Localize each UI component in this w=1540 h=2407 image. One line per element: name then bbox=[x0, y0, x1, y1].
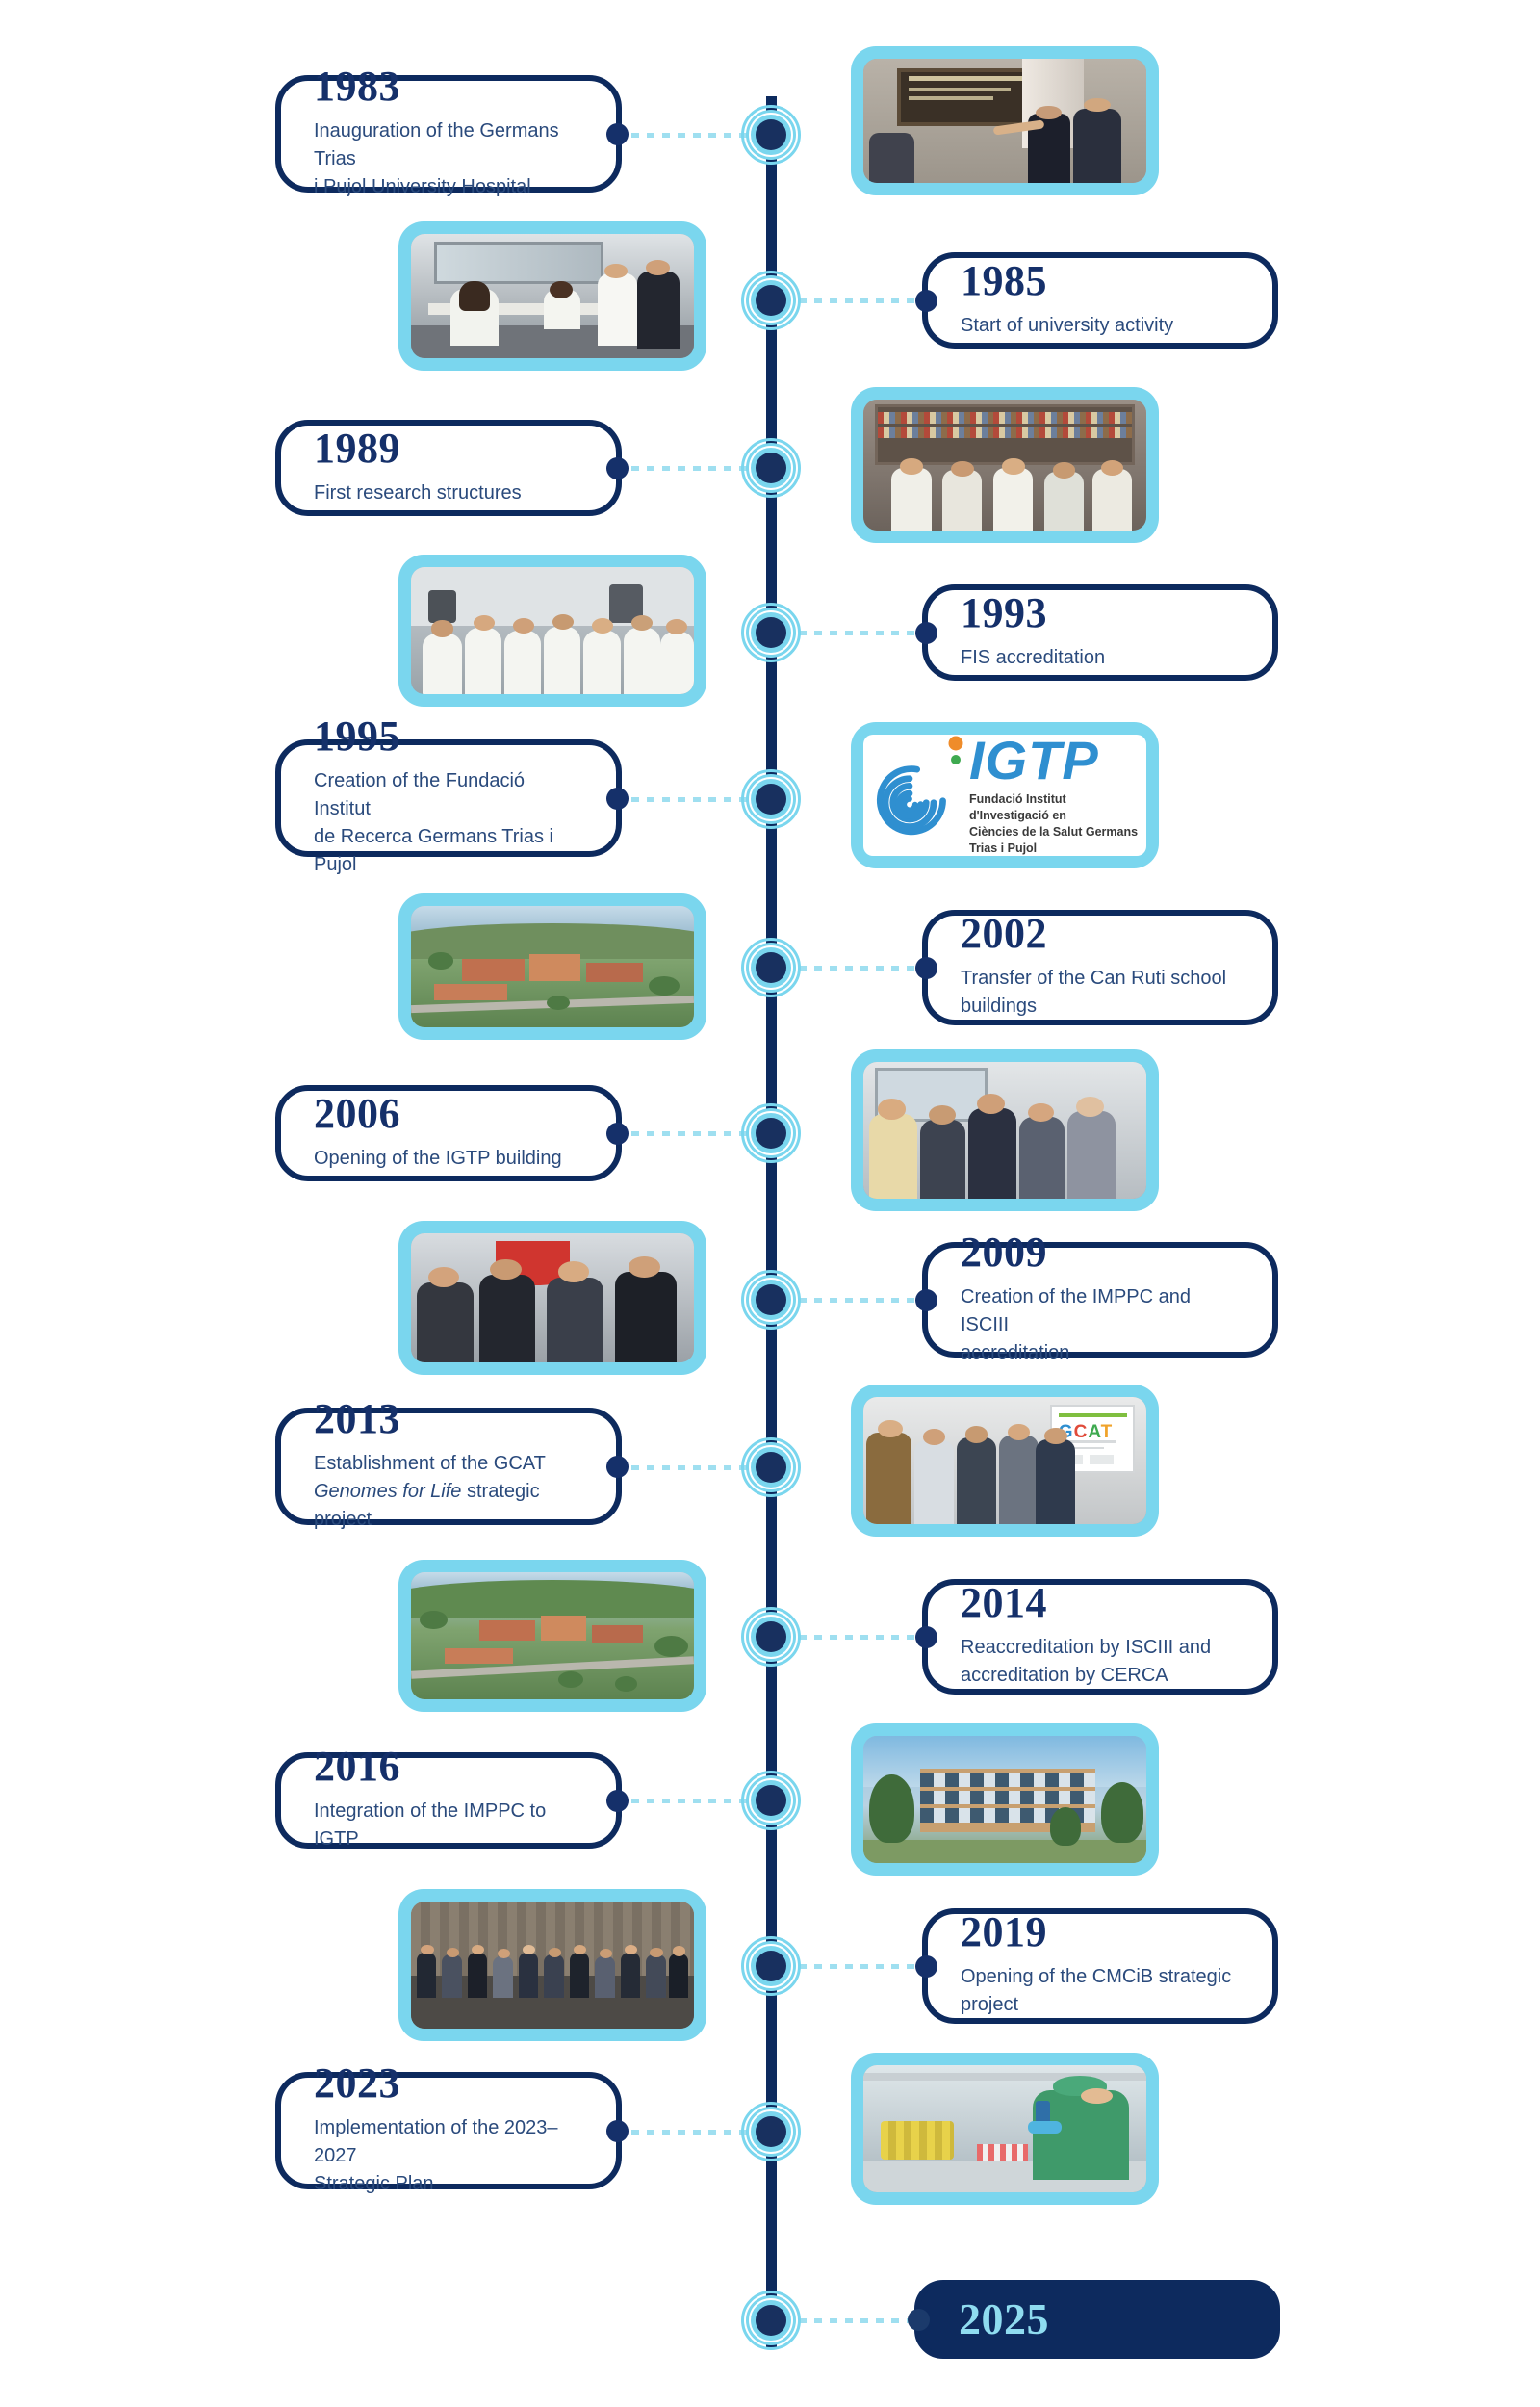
event-year-2013: 2013 bbox=[314, 1398, 583, 1440]
logo-dots-icon bbox=[944, 736, 973, 768]
connector-2002 bbox=[799, 966, 934, 971]
event-desc-1985: Start of university activity bbox=[961, 312, 1240, 340]
photo-frame-inner bbox=[863, 1736, 1146, 1863]
event-year-1983: 1983 bbox=[314, 65, 583, 108]
timeline-node-1983[interactable] bbox=[741, 105, 801, 165]
card-anchor-dot bbox=[606, 457, 629, 479]
node-core-icon bbox=[756, 1785, 786, 1816]
event-desc-2013: Establishment of the GCAT Genomes for Li… bbox=[314, 1450, 583, 1534]
event-year-2019: 2019 bbox=[961, 1911, 1240, 1954]
event-desc-line1: Establishment of the GCAT bbox=[314, 1453, 546, 1474]
photo-gcat-team-2013[interactable]: GCAT bbox=[851, 1385, 1159, 1537]
node-core-icon bbox=[756, 1621, 786, 1652]
photo-image bbox=[863, 59, 1146, 183]
event-year-2002: 2002 bbox=[961, 913, 1240, 955]
timeline-node-1993[interactable] bbox=[741, 603, 801, 662]
event-card-2014[interactable]: 2014 Reaccreditation by ISCIII and accre… bbox=[922, 1579, 1278, 1695]
event-card-1983[interactable]: 1983 Inauguration of the Germans Trias i… bbox=[275, 75, 622, 193]
photo-laboratory-1985[interactable] bbox=[398, 221, 706, 371]
event-card-1985[interactable]: 1985 Start of university activity bbox=[922, 252, 1278, 349]
event-card-1993[interactable]: 1993 FIS accreditation bbox=[922, 584, 1278, 681]
event-desc-line2: i Pujol University Hospital bbox=[314, 176, 531, 197]
photo-frame-inner bbox=[863, 1062, 1146, 1199]
event-desc-line2: project bbox=[961, 1994, 1018, 2015]
photo-plaque-unveiling-1983[interactable] bbox=[851, 46, 1159, 195]
photo-frame-inner bbox=[411, 1902, 694, 2029]
node-core-icon bbox=[756, 2305, 786, 2336]
event-year-2023: 2023 bbox=[314, 2062, 583, 2105]
card-anchor-dot bbox=[915, 1955, 937, 1978]
node-core-icon bbox=[756, 1951, 786, 1981]
connector-1993 bbox=[799, 631, 934, 635]
timeline-node-1985[interactable] bbox=[741, 271, 801, 330]
event-desc-project-name: Genomes for Life bbox=[314, 1481, 461, 1502]
node-core-icon bbox=[756, 1284, 786, 1315]
photo-frame-inner bbox=[863, 2065, 1146, 2192]
event-desc-line2: buildings bbox=[961, 996, 1037, 1017]
event-desc-2023: Implementation of the 2023–2027 Strategi… bbox=[314, 2114, 583, 2198]
event-card-2013[interactable]: 2013 Establishment of the GCAT Genomes f… bbox=[275, 1408, 622, 1525]
timeline-node-2025[interactable] bbox=[741, 2291, 801, 2350]
photo-imppc-building-2016[interactable] bbox=[851, 1723, 1159, 1876]
event-year-2009: 2009 bbox=[961, 1231, 1240, 1274]
photo-lab-pipetting-2023[interactable] bbox=[851, 2053, 1159, 2205]
node-core-icon bbox=[756, 784, 786, 815]
event-desc-2019: Opening of the CMCiB strategic project bbox=[961, 1963, 1240, 2019]
igtp-tagline: Fundació Institut d'Investigació en Cièn… bbox=[969, 791, 1146, 856]
event-desc-2016: Integration of the IMPPC to IGTP bbox=[314, 1798, 583, 1853]
photo-igtp-logo-1995[interactable]: IGTP Fundació Institut d'Investigació en… bbox=[851, 722, 1159, 868]
event-desc-1983: Inauguration of the Germans Trias i Pujo… bbox=[314, 117, 583, 201]
timeline-node-2013[interactable] bbox=[741, 1437, 801, 1497]
event-desc-2009: Creation of the IMPPC and ISCIII accredi… bbox=[961, 1283, 1240, 1367]
event-year-2025: 2025 bbox=[959, 2297, 1236, 2342]
connector-2025 bbox=[799, 2318, 924, 2323]
photo-image bbox=[411, 1902, 694, 2029]
photo-frame-inner: GCAT bbox=[863, 1397, 1146, 1524]
photo-image bbox=[411, 906, 694, 1027]
timeline-infographic: 1983 Inauguration of the Germans Trias i… bbox=[0, 0, 1540, 2407]
igtp-logo: IGTP Fundació Institut d'Investigació en… bbox=[863, 735, 1146, 856]
node-core-icon bbox=[756, 119, 786, 150]
photo-image bbox=[863, 2065, 1146, 2192]
card-anchor-dot bbox=[915, 290, 937, 312]
event-desc-line1: Inauguration of the Germans Trias bbox=[314, 120, 559, 169]
event-desc-line2: accreditation by CERCA bbox=[961, 1665, 1168, 1686]
photo-frame-inner bbox=[863, 400, 1146, 531]
event-card-2006[interactable]: 2006 Opening of the IGTP building bbox=[275, 1085, 622, 1181]
photo-image bbox=[411, 1233, 694, 1362]
event-year-1989: 1989 bbox=[314, 427, 583, 470]
event-desc-line1: Creation of the IMPPC and ISCIII bbox=[961, 1286, 1191, 1335]
photo-frame-inner bbox=[411, 1572, 694, 1699]
photo-frame-inner bbox=[411, 906, 694, 1027]
timeline-node-2002[interactable] bbox=[741, 938, 801, 997]
igtp-wordmark: IGTP bbox=[969, 735, 1146, 788]
igtp-text-block: IGTP Fundació Institut d'Investigació en… bbox=[969, 735, 1146, 856]
event-year-1985: 1985 bbox=[961, 260, 1240, 302]
timeline-node-2016[interactable] bbox=[741, 1771, 801, 1830]
photo-building-opening-2006[interactable] bbox=[851, 1049, 1159, 1211]
event-year-2006: 2006 bbox=[314, 1093, 583, 1135]
event-desc-line1: Transfer of the Can Ruti school bbox=[961, 968, 1226, 989]
timeline-node-2019[interactable] bbox=[741, 1936, 801, 1996]
connector-2009 bbox=[799, 1298, 934, 1303]
igtp-tagline-line2: Ciències de la Salut Germans Trias i Puj… bbox=[969, 825, 1138, 855]
photo-frame-inner: IGTP Fundació Institut d'Investigació en… bbox=[863, 735, 1146, 856]
event-card-2009[interactable]: 2009 Creation of the IMPPC and ISCIII ac… bbox=[922, 1242, 1278, 1358]
photo-image bbox=[411, 567, 694, 694]
event-desc-line2: de Recerca Germans Trias i Pujol bbox=[314, 826, 553, 875]
timeline-node-2009[interactable] bbox=[741, 1270, 801, 1330]
card-anchor-dot bbox=[915, 1289, 937, 1311]
card-anchor-dot bbox=[606, 123, 629, 145]
photo-imppc-ceremony-2009[interactable] bbox=[398, 1221, 706, 1375]
event-desc-1993: FIS accreditation bbox=[961, 644, 1240, 672]
photo-image bbox=[411, 1572, 694, 1699]
card-anchor-dot bbox=[606, 788, 629, 810]
card-anchor-dot bbox=[908, 2309, 930, 2331]
event-card-2025[interactable]: 2025 bbox=[914, 2280, 1280, 2359]
card-anchor-dot bbox=[606, 1456, 629, 1478]
photo-cmcib-opening-2019[interactable] bbox=[398, 1889, 706, 2041]
node-core-icon bbox=[756, 285, 786, 316]
spiral-icon bbox=[863, 749, 956, 841]
event-desc-2006: Opening of the IGTP building bbox=[314, 1145, 583, 1173]
event-year-2016: 2016 bbox=[314, 1746, 583, 1788]
event-card-1995[interactable]: 1995 Creation of the Fundació Institut d… bbox=[275, 739, 622, 857]
event-card-2019[interactable]: 2019 Opening of the CMCiB strategic proj… bbox=[922, 1908, 1278, 2024]
card-anchor-dot bbox=[915, 622, 937, 644]
node-core-icon bbox=[756, 952, 786, 983]
event-year-2014: 2014 bbox=[961, 1582, 1240, 1624]
connector-1985 bbox=[799, 298, 934, 303]
timeline-node-1989[interactable] bbox=[741, 438, 801, 498]
node-core-icon bbox=[756, 617, 786, 648]
photo-can-ruti-campus-2002[interactable] bbox=[398, 893, 706, 1040]
timeline-node-2023[interactable] bbox=[741, 2102, 801, 2161]
event-desc-1995: Creation of the Fundació Institut de Rec… bbox=[314, 767, 583, 879]
event-desc-line1: Implementation of the 2023–2027 bbox=[314, 2117, 558, 2166]
event-year-1995: 1995 bbox=[314, 715, 583, 758]
timeline-node-2014[interactable] bbox=[741, 1607, 801, 1667]
node-core-icon bbox=[756, 2116, 786, 2147]
card-anchor-dot bbox=[606, 2120, 629, 2142]
node-core-icon bbox=[756, 453, 786, 483]
card-anchor-dot bbox=[915, 957, 937, 979]
photo-image bbox=[411, 234, 694, 358]
connector-2019 bbox=[799, 1964, 934, 1969]
event-card-2023[interactable]: 2023 Implementation of the 2023–2027 Str… bbox=[275, 2072, 622, 2189]
photo-frame-inner bbox=[411, 1233, 694, 1362]
event-desc-1989: First research structures bbox=[314, 479, 583, 507]
card-anchor-dot bbox=[606, 1123, 629, 1145]
photo-library-group-1989[interactable] bbox=[851, 387, 1159, 543]
photo-image bbox=[863, 1062, 1146, 1199]
timeline-spine bbox=[766, 96, 777, 2349]
event-desc-line2: accreditation bbox=[961, 1342, 1069, 1363]
photo-frame-inner bbox=[411, 234, 694, 358]
event-desc-line2: Strategic Plan bbox=[314, 2173, 434, 2194]
igtp-tagline-line1: Fundació Institut d'Investigació en bbox=[969, 792, 1066, 822]
photo-image bbox=[863, 400, 1146, 531]
photo-frame-inner bbox=[863, 59, 1146, 183]
photo-campus-aerial-2014[interactable] bbox=[398, 1560, 706, 1712]
event-year-1993: 1993 bbox=[961, 592, 1240, 634]
timeline-node-1995[interactable] bbox=[741, 769, 801, 829]
photo-image: GCAT bbox=[863, 1397, 1146, 1524]
node-core-icon bbox=[756, 1118, 786, 1149]
event-card-1989[interactable]: 1989 First research structures bbox=[275, 420, 622, 516]
event-desc-line1: Reaccreditation by ISCIII and bbox=[961, 1637, 1211, 1658]
event-card-2016[interactable]: 2016 Integration of the IMPPC to IGTP bbox=[275, 1752, 622, 1849]
event-desc-2002: Transfer of the Can Ruti school building… bbox=[961, 965, 1240, 1021]
event-desc-line1: Opening of the CMCiB strategic bbox=[961, 1966, 1231, 1987]
photo-image bbox=[863, 1736, 1146, 1863]
photo-research-team-1993[interactable] bbox=[398, 555, 706, 707]
event-card-2002[interactable]: 2002 Transfer of the Can Ruti school bui… bbox=[922, 910, 1278, 1025]
connector-2014 bbox=[799, 1635, 934, 1640]
event-desc-line1: Creation of the Fundació Institut bbox=[314, 770, 525, 819]
node-core-icon bbox=[756, 1452, 786, 1483]
photo-frame-inner bbox=[411, 567, 694, 694]
timeline-node-2006[interactable] bbox=[741, 1103, 801, 1163]
card-anchor-dot bbox=[915, 1626, 937, 1648]
card-anchor-dot bbox=[606, 1790, 629, 1812]
event-desc-2014: Reaccreditation by ISCIII and accreditat… bbox=[961, 1634, 1240, 1690]
